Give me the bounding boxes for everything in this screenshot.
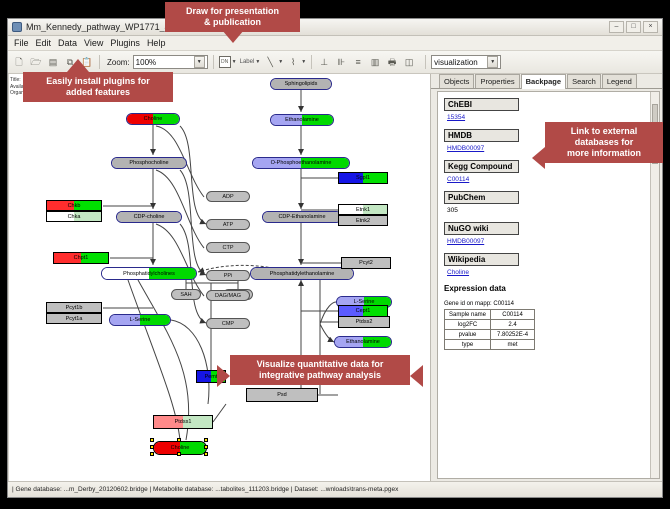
tab-backpage[interactable]: Backpage — [521, 74, 566, 89]
chevron-down-icon[interactable]: ▼ — [301, 59, 306, 65]
side-panel-tabs: Objects Properties Backpage Search Legen… — [431, 74, 662, 89]
tab-objects[interactable]: Objects — [439, 74, 474, 88]
menu-item-plugins[interactable]: Plugins — [110, 38, 140, 48]
metabolite-node[interactable]: CDP-choline — [116, 211, 182, 223]
metabolite-label: L-Serine — [130, 317, 151, 323]
cofactor-node[interactable]: CTP — [206, 242, 250, 253]
db-header-wikipedia: Wikipedia — [444, 253, 519, 266]
gene-node[interactable]: Pcyt2 — [341, 257, 391, 269]
group-icon[interactable]: ▥ — [368, 55, 382, 70]
selected-metabolite-label: Choline — [171, 445, 190, 451]
callout-links-line-2: databases for — [551, 137, 657, 148]
callout-links-line-1: Link to external — [551, 126, 657, 137]
node-fill-right — [282, 389, 317, 401]
metabolite-node[interactable]: Ethanolamine — [334, 336, 392, 348]
gene-label: Psd — [277, 392, 286, 398]
expression-data-title: Expression data — [444, 284, 659, 293]
gene-node[interactable]: Pcyt1a — [46, 313, 102, 324]
shape-icon[interactable]: ⌇ — [286, 55, 300, 70]
cofactor-node[interactable]: ATP — [206, 219, 250, 230]
db-header-kegg-compound: Kegg Compound — [444, 160, 519, 173]
selection-handle[interactable] — [204, 445, 208, 449]
metabolite-label: L-Serine — [354, 299, 375, 305]
db-header-hmdb: HMDB — [444, 129, 519, 142]
metabolite-label: Ethanolamine — [346, 339, 380, 345]
datanode-icon[interactable]: DN — [219, 56, 231, 68]
callout-links-arrow-icon — [532, 147, 545, 169]
gene-label: Ptdss1 — [175, 419, 192, 425]
callout-links: Link to external databases for more info… — [545, 122, 663, 163]
gene-label: Etnk1 — [356, 207, 370, 213]
expression-value: met — [491, 340, 535, 350]
status-bar-text: | Gene database: ...m_Derby_20120602.bri… — [12, 486, 398, 493]
selection-handle[interactable] — [150, 438, 154, 442]
db-header-pubchem: PubChem — [444, 191, 519, 204]
distribute-icon[interactable]: ⊪ — [334, 55, 348, 70]
metabolite-label: O-Phosphoethanolamine — [271, 160, 332, 166]
menu-bar: File Edit Data View Plugins Help — [8, 36, 662, 51]
tab-search[interactable]: Search — [567, 74, 601, 88]
selection-handle[interactable] — [150, 452, 154, 456]
table-row: typemet — [445, 340, 535, 350]
metabolite-node[interactable]: CDP-Ethanolamine — [262, 211, 342, 223]
selection-handle[interactable] — [204, 452, 208, 456]
table-row: log2FC2.4 — [445, 320, 535, 330]
metabolite-label: Sphingolipids — [285, 81, 318, 87]
gene-node[interactable]: Chka — [46, 211, 102, 222]
callout-draw-line-2: & publication — [171, 17, 294, 28]
zoom-label: Zoom: — [107, 58, 130, 67]
gene-id-on-mapp: Gene id on mapp: C00114 — [444, 301, 659, 307]
selection-handle[interactable] — [177, 452, 181, 456]
callout-plugins-arrow-icon — [67, 59, 89, 72]
gene-node[interactable]: Etnk1 — [338, 204, 388, 215]
metabolite-node[interactable]: Ethanolamine — [270, 114, 334, 126]
cofactor-node[interactable]: CMP — [206, 318, 250, 329]
toolbar-separator-4 — [425, 55, 426, 69]
expression-value: 7.80252E-4 — [491, 330, 535, 340]
chevron-down-icon[interactable]: ▼ — [255, 59, 260, 65]
selection-handle[interactable] — [177, 438, 181, 442]
metabolite-label: CDP-choline — [134, 214, 165, 220]
db-link-chebi[interactable]: 15354 — [447, 114, 659, 121]
gene-label: Ptdss2 — [356, 319, 373, 325]
db-link-nugo-wiki[interactable]: HMDB00097 — [447, 238, 659, 245]
gene-node[interactable]: Sgpl1 — [338, 172, 388, 184]
expression-value: 2.4 — [491, 320, 535, 330]
db-header-nugo-wiki: NuGO wiki — [444, 222, 519, 235]
toolbar-separator-1 — [99, 55, 100, 69]
callout-visualize-line-1: Visualize quantitative data for — [236, 359, 404, 370]
maximize-button[interactable]: □ — [626, 21, 641, 33]
menu-item-view[interactable]: View — [84, 38, 103, 48]
expression-value: C00114 — [491, 310, 535, 320]
gene-node[interactable]: Etnk2 — [338, 215, 388, 226]
window-controls[interactable]: – □ × — [609, 21, 658, 33]
zoom-value: 100% — [136, 58, 194, 67]
metabolite-node[interactable]: Phosphocholine — [111, 157, 187, 169]
metabolite-node[interactable]: Phosphatidylethanolamine — [250, 267, 354, 280]
order-icon[interactable]: ◫ — [402, 55, 416, 70]
chevron-down-icon[interactable]: ▼ — [194, 56, 205, 68]
expression-key: log2FC — [445, 320, 491, 330]
status-bar: | Gene database: ...m_Derby_20120602.bri… — [8, 481, 662, 497]
gene-label: Chpt1 — [74, 255, 89, 261]
title-bar: Mm_Kennedy_pathway_WP1771_45176.gpml – □… — [8, 19, 662, 36]
callout-draw-line-1: Draw for presentation — [171, 6, 294, 17]
tab-legend[interactable]: Legend — [602, 74, 637, 88]
line-icon[interactable]: ╲ — [263, 55, 277, 70]
chevron-down-icon[interactable]: ▼ — [487, 56, 498, 68]
menu-item-edit[interactable]: Edit — [36, 38, 52, 48]
gene-node[interactable]: Ptdss1 — [153, 415, 213, 429]
gene-node[interactable]: Pcyt1b — [46, 302, 102, 313]
gene-node[interactable]: Ptdss2 — [338, 316, 390, 328]
visualization-value: visualization — [434, 58, 487, 67]
db-link-kegg-compound[interactable]: C00114 — [447, 176, 659, 183]
zoom-combobox[interactable]: 100% ▼ — [133, 55, 208, 69]
db-value-pubchem: 305 — [447, 207, 659, 214]
expression-key: type — [445, 340, 491, 350]
callout-plugins-line-1: Easily install plugins for — [29, 76, 167, 87]
metabolite-label: CDP-Ethanolamine — [278, 214, 325, 220]
metabolite-node[interactable]: L-Serine — [109, 314, 171, 326]
callout-draw: Draw for presentation & publication — [165, 2, 300, 32]
gene-node[interactable]: Psd — [246, 388, 318, 402]
chevron-down-icon[interactable]: ▼ — [278, 59, 283, 65]
tab-properties[interactable]: Properties — [475, 74, 519, 88]
gene-node[interactable]: Chkb — [46, 200, 102, 211]
visualization-combobox[interactable]: visualization ▼ — [431, 55, 501, 69]
callout-plugins: Easily install plugins for added feature… — [23, 72, 173, 102]
label-tool[interactable]: Label ▼ — [240, 59, 261, 65]
gene-label: Pcyt1a — [66, 316, 83, 322]
callout-draw-arrow-icon — [222, 30, 244, 43]
toolbar: 🗋 🗁 ▤ ⧉ 📋 Zoom: 100% ▼ DN ▼ Label ▼ ╲ ▼ … — [8, 51, 662, 74]
gene-label: Pcyt1b — [66, 305, 83, 311]
expression-table: Sample nameC00114log2FC2.4pvalue7.80252E… — [444, 309, 535, 350]
callout-links-line-3: more information — [551, 148, 657, 159]
db-link-wikipedia[interactable]: Choline — [447, 269, 659, 276]
selection-handle[interactable] — [204, 438, 208, 442]
metabolite-label: Ethanolamine — [285, 117, 319, 123]
callout-visualize-arrow-right-icon — [410, 365, 423, 387]
app-icon — [12, 22, 22, 32]
pathway-canvas[interactable]: Title: Availa Organi — [8, 74, 431, 481]
menu-item-help[interactable]: Help — [147, 38, 166, 48]
callout-visualize-line-2: integrative pathway analysis — [236, 370, 404, 381]
shape-tool[interactable]: ⌇ ▼ — [286, 55, 306, 70]
cofactor-node[interactable]: PPi — [206, 270, 250, 281]
cofactor-node[interactable]: DAG/MAG — [206, 290, 250, 301]
close-button[interactable]: × — [643, 21, 658, 33]
gene-label: Pemt — [205, 374, 218, 380]
label-tool-label[interactable]: Label — [240, 59, 255, 65]
callout-visualize: Visualize quantitative data for integrat… — [230, 355, 410, 385]
gene-label: Sgpl1 — [356, 175, 370, 181]
stack-icon[interactable]: ≡ — [351, 55, 365, 70]
datanode-tool[interactable]: DN ▼ — [219, 56, 237, 68]
expression-key: pvalue — [445, 330, 491, 340]
gene-label: Cept1 — [356, 308, 371, 314]
table-row: Sample nameC00114 — [445, 310, 535, 320]
align-icon[interactable]: ⊥ — [317, 55, 331, 70]
callout-visualize-arrow-icon — [217, 365, 230, 387]
table-row: pvalue7.80252E-4 — [445, 330, 535, 340]
metabolite-node[interactable]: Phosphatidylcholines — [101, 267, 197, 280]
gene-label: Chka — [68, 214, 81, 220]
db-header-chebi: ChEBI — [444, 98, 519, 111]
chevron-down-icon[interactable]: ▼ — [232, 59, 237, 65]
expression-key: Sample name — [445, 310, 491, 320]
metabolite-label: Phosphatidylethanolamine — [270, 271, 335, 277]
gene-label: Chkb — [68, 203, 81, 209]
cofactor-node[interactable]: ADP — [206, 191, 250, 202]
gene-label: Etnk2 — [356, 218, 370, 224]
cofactor-node[interactable]: SAH — [171, 289, 201, 300]
metabolite-label: Phosphatidylcholines — [123, 271, 175, 277]
save-icon[interactable]: ▤ — [46, 55, 60, 70]
metabolite-label: Phosphocholine — [129, 160, 168, 166]
menu-item-file[interactable]: File — [14, 38, 29, 48]
callout-plugins-line-2: added features — [29, 87, 167, 98]
toolbar-separator-2 — [213, 55, 214, 69]
print-icon[interactable]: 🖶 — [385, 55, 399, 70]
line-tool[interactable]: ╲ ▼ — [263, 55, 283, 70]
gene-label: Pcyt2 — [359, 260, 373, 266]
open-folder-icon[interactable]: 🗁 — [29, 55, 43, 70]
menu-item-data[interactable]: Data — [58, 38, 77, 48]
metabolite-node[interactable]: Sphingolipids — [270, 78, 332, 90]
minimize-button[interactable]: – — [609, 21, 624, 33]
selection-handle[interactable] — [150, 445, 154, 449]
metabolite-node[interactable]: Choline — [126, 113, 180, 125]
metabolite-label: Choline — [144, 116, 163, 122]
toolbar-separator-3 — [311, 55, 312, 69]
new-file-icon[interactable]: 🗋 — [12, 55, 26, 70]
metabolite-node[interactable]: O-Phosphoethanolamine — [252, 157, 350, 169]
gene-node[interactable]: Chpt1 — [53, 252, 109, 264]
